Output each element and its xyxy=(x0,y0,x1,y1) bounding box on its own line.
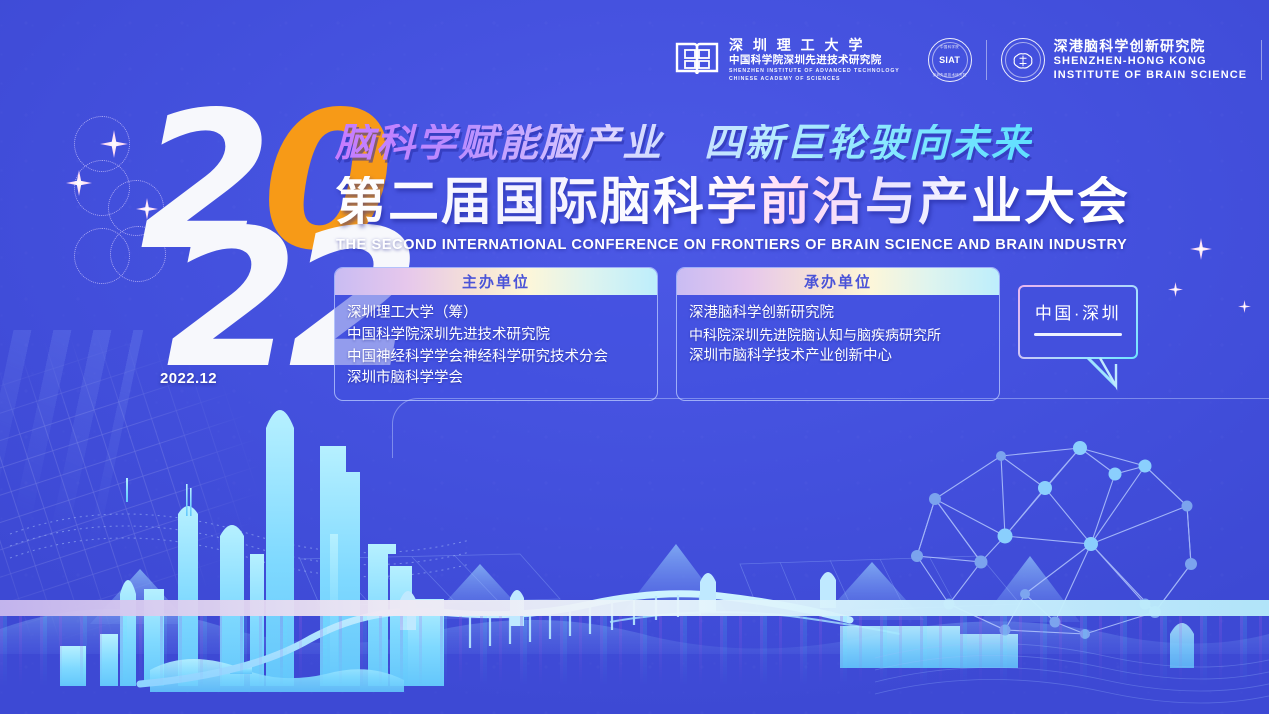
logo-shenzhen-hong-kong-institute-of-brain-science: 深港脑科学创新研究院 SHENZHEN-HONG KONG INSTITUTE … xyxy=(987,34,1262,86)
info-box-body: 深港脑科学创新研究院 中科院深圳先进院脑认知与脑疾病研究所 深圳市脑科学技术产业… xyxy=(677,295,999,378)
year-graphic: 20 22 20 22 2022.12 xyxy=(140,108,340,393)
location-label: 中国·深圳 xyxy=(1018,299,1138,324)
logo-cn-secondary: 中国科学院深圳先进技术研究院 xyxy=(729,54,900,68)
conference-poster: 深 圳 理 工 大 学 中国科学院深圳先进技术研究院 SHENZHEN INST… xyxy=(0,0,1269,714)
decor-frame-line xyxy=(392,398,1269,458)
list-item: 深圳理工大学（筹） xyxy=(347,303,645,325)
sparkle-icon xyxy=(1190,238,1212,260)
partner-logo-bar: 深 圳 理 工 大 学 中国科学院深圳先进技术研究院 SHENZHEN INST… xyxy=(660,26,1269,94)
bubble-underline xyxy=(1034,333,1122,336)
logo-en-line1: SHENZHEN-HONG KONG xyxy=(1054,55,1248,68)
seal-core-text: SIAT xyxy=(939,55,960,65)
info-box-hosts: 承办单位 深港脑科学创新研究院 中科院深圳先进院脑认知与脑疾病研究所 深圳市脑科… xyxy=(676,267,1000,401)
reflection-band xyxy=(0,600,1269,616)
sparkle-icon xyxy=(66,170,92,196)
seal-top-text: 中国科学院 xyxy=(940,44,959,49)
bubble-tail-icon xyxy=(1086,356,1126,394)
list-item: 深港脑科学创新研究院 xyxy=(689,303,987,325)
logo-en-line2: CHINESE ACADEMY OF SCIENCES xyxy=(729,76,900,84)
list-item: 深圳市脑科学学会 xyxy=(347,368,645,390)
open-book-icon xyxy=(674,39,720,81)
list-item: 中科院深圳先进院脑认知与脑疾病研究所 xyxy=(689,325,987,346)
logo-siat-seal: 中国科学院 SIAT 深圳先进技术研究院 xyxy=(914,34,986,86)
logo-shenzhen-institute-of-advanced-technology: 深 圳 理 工 大 学 中国科学院深圳先进技术研究院 SHENZHEN INST… xyxy=(660,34,914,86)
info-box-group: 主办单位 深圳理工大学（筹） 中国科学院深圳先进技术研究院 中国神经科学学会神经… xyxy=(334,267,1000,401)
list-item: 深圳市脑科学技术产业创新中心 xyxy=(689,346,987,368)
event-date: 2022.12 xyxy=(160,370,217,387)
info-box-header-label: 承办单位 xyxy=(804,271,872,292)
info-box-header: 承办单位 xyxy=(677,268,999,295)
sparkle-icon xyxy=(1168,282,1183,297)
reflection-streaks xyxy=(0,616,1269,706)
logo-partner-seal: 深圳市脑科学学会 xyxy=(1262,34,1269,86)
location-bubble: 中国·深圳 xyxy=(1018,285,1138,359)
page-title: 第二届国际脑科学前沿与产业大会 xyxy=(335,176,1130,227)
info-box-header-label: 主办单位 xyxy=(462,271,530,292)
logo-cn-primary: 深港脑科学创新研究院 xyxy=(1054,38,1248,56)
sparkle-icon xyxy=(100,130,128,158)
brain-seal-icon xyxy=(1001,38,1045,82)
info-box-header: 主办单位 xyxy=(335,268,657,295)
poster-subtitle-english: THE SECOND INTERNATIONAL CONFERENCE ON F… xyxy=(336,237,1127,253)
list-item: 中国科学院深圳先进技术研究院 xyxy=(347,325,645,347)
logo-en-line2: INSTITUTE OF BRAIN SCIENCE xyxy=(1054,69,1248,82)
poster-tagline: 脑科学赋能脑产业 四新巨轮驶向未来 xyxy=(335,124,1032,163)
info-box-body: 深圳理工大学（筹） 中国科学院深圳先进技术研究院 中国神经科学学会神经科学研究技… xyxy=(335,295,657,400)
brain-glyph-icon xyxy=(1010,47,1036,73)
logo-cn-primary: 深 圳 理 工 大 学 xyxy=(729,37,900,55)
logo-en-line1: SHENZHEN INSTITUTE OF ADVANCED TECHNOLOG… xyxy=(729,68,900,76)
info-box-organizers: 主办单位 深圳理工大学（筹） 中国科学院深圳先进技术研究院 中国神经科学学会神经… xyxy=(334,267,658,401)
circular-seal-icon: 中国科学院 SIAT 深圳先进技术研究院 xyxy=(928,38,972,82)
sparkle-icon xyxy=(1238,300,1251,313)
list-item: 中国神经科学学会神经科学研究技术分会 xyxy=(347,347,645,369)
seal-bottom-text: 深圳先进技术研究院 xyxy=(933,72,967,77)
